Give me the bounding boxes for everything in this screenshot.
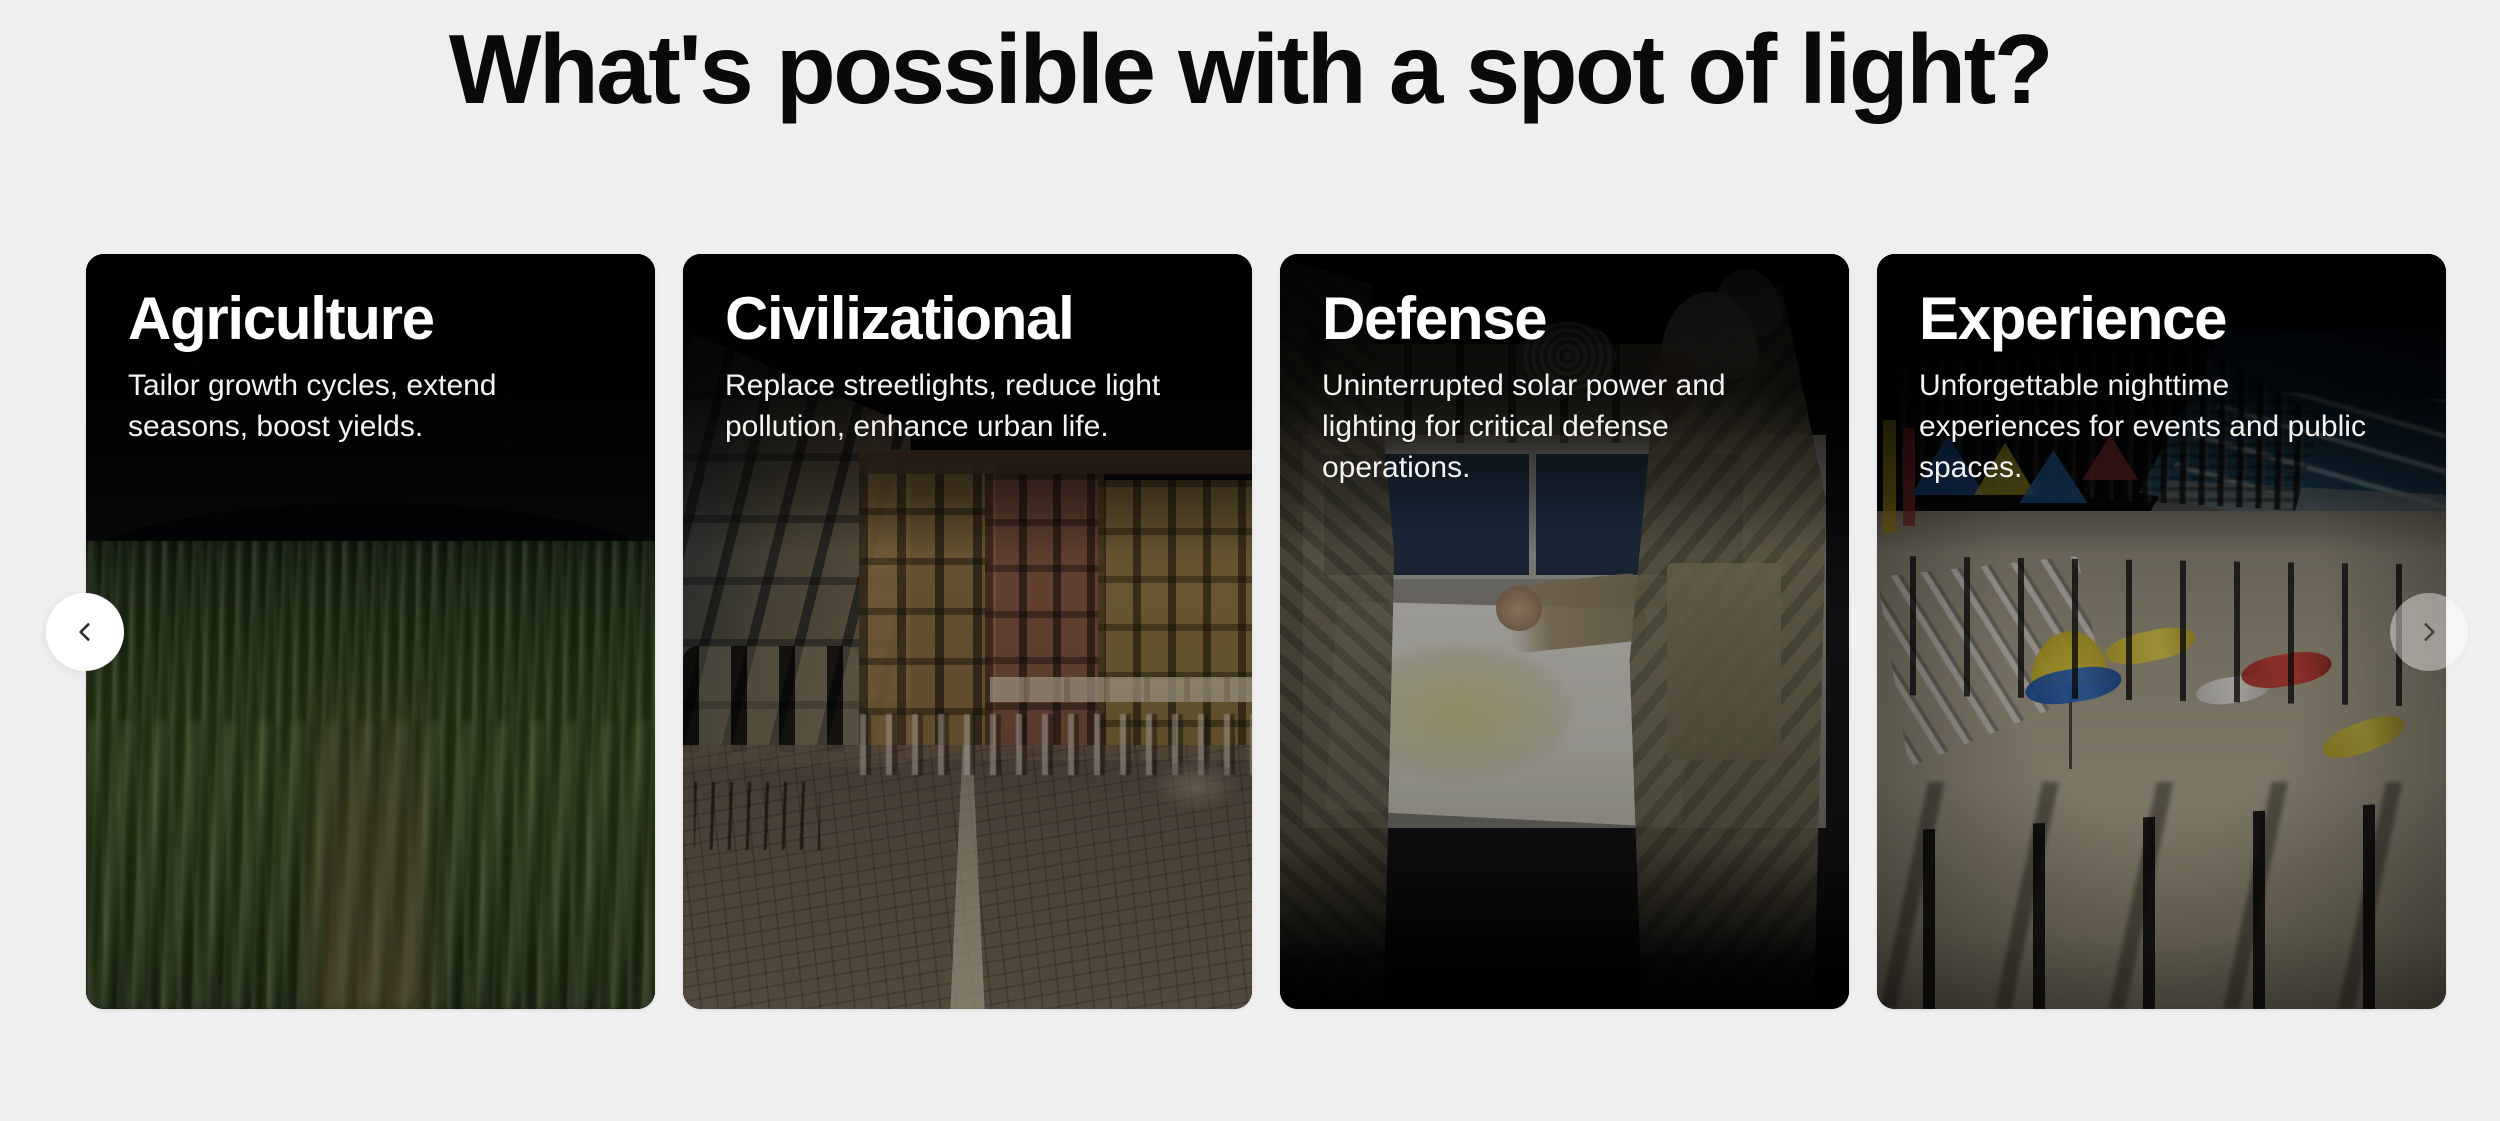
carousel-prev-button[interactable]	[46, 593, 124, 671]
card-text-block: Civilizational Replace streetlights, red…	[683, 254, 1252, 448]
page-title: What's possible with a spot of light?	[0, 0, 2500, 121]
card-text-block: Agriculture Tailor growth cycles, extend…	[86, 254, 655, 448]
card-description: Tailor growth cycles, extend seasons, bo…	[128, 366, 608, 448]
card-description: Unforgettable nighttime experiences for …	[1919, 366, 2399, 488]
card-text-block: Defense Uninterrupted solar power and li…	[1280, 254, 1849, 489]
card-text-block: Experience Unforgettable nighttime exper…	[1877, 254, 2446, 489]
cards-carousel: Agriculture Tailor growth cycles, extend…	[0, 254, 2500, 1011]
card-title: Civilizational	[725, 287, 1212, 351]
carousel-card-defense[interactable]: Defense Uninterrupted solar power and li…	[1280, 254, 1849, 1009]
card-title: Agriculture	[128, 287, 615, 351]
carousel-card-civilizational[interactable]: Civilizational Replace streetlights, red…	[683, 254, 1252, 1009]
carousel-track[interactable]: Agriculture Tailor growth cycles, extend…	[0, 254, 2500, 1009]
card-title: Experience	[1919, 287, 2406, 351]
card-description: Uninterrupted solar power and lighting f…	[1322, 366, 1802, 488]
carousel-card-experience[interactable]: Experience Unforgettable nighttime exper…	[1877, 254, 2446, 1009]
chevron-left-icon	[72, 619, 98, 645]
chevron-right-icon	[2416, 619, 2442, 645]
card-title: Defense	[1322, 287, 1809, 351]
carousel-card-agriculture[interactable]: Agriculture Tailor growth cycles, extend…	[86, 254, 655, 1009]
carousel-next-button[interactable]	[2390, 593, 2468, 671]
card-description: Replace streetlights, reduce light pollu…	[725, 366, 1205, 448]
